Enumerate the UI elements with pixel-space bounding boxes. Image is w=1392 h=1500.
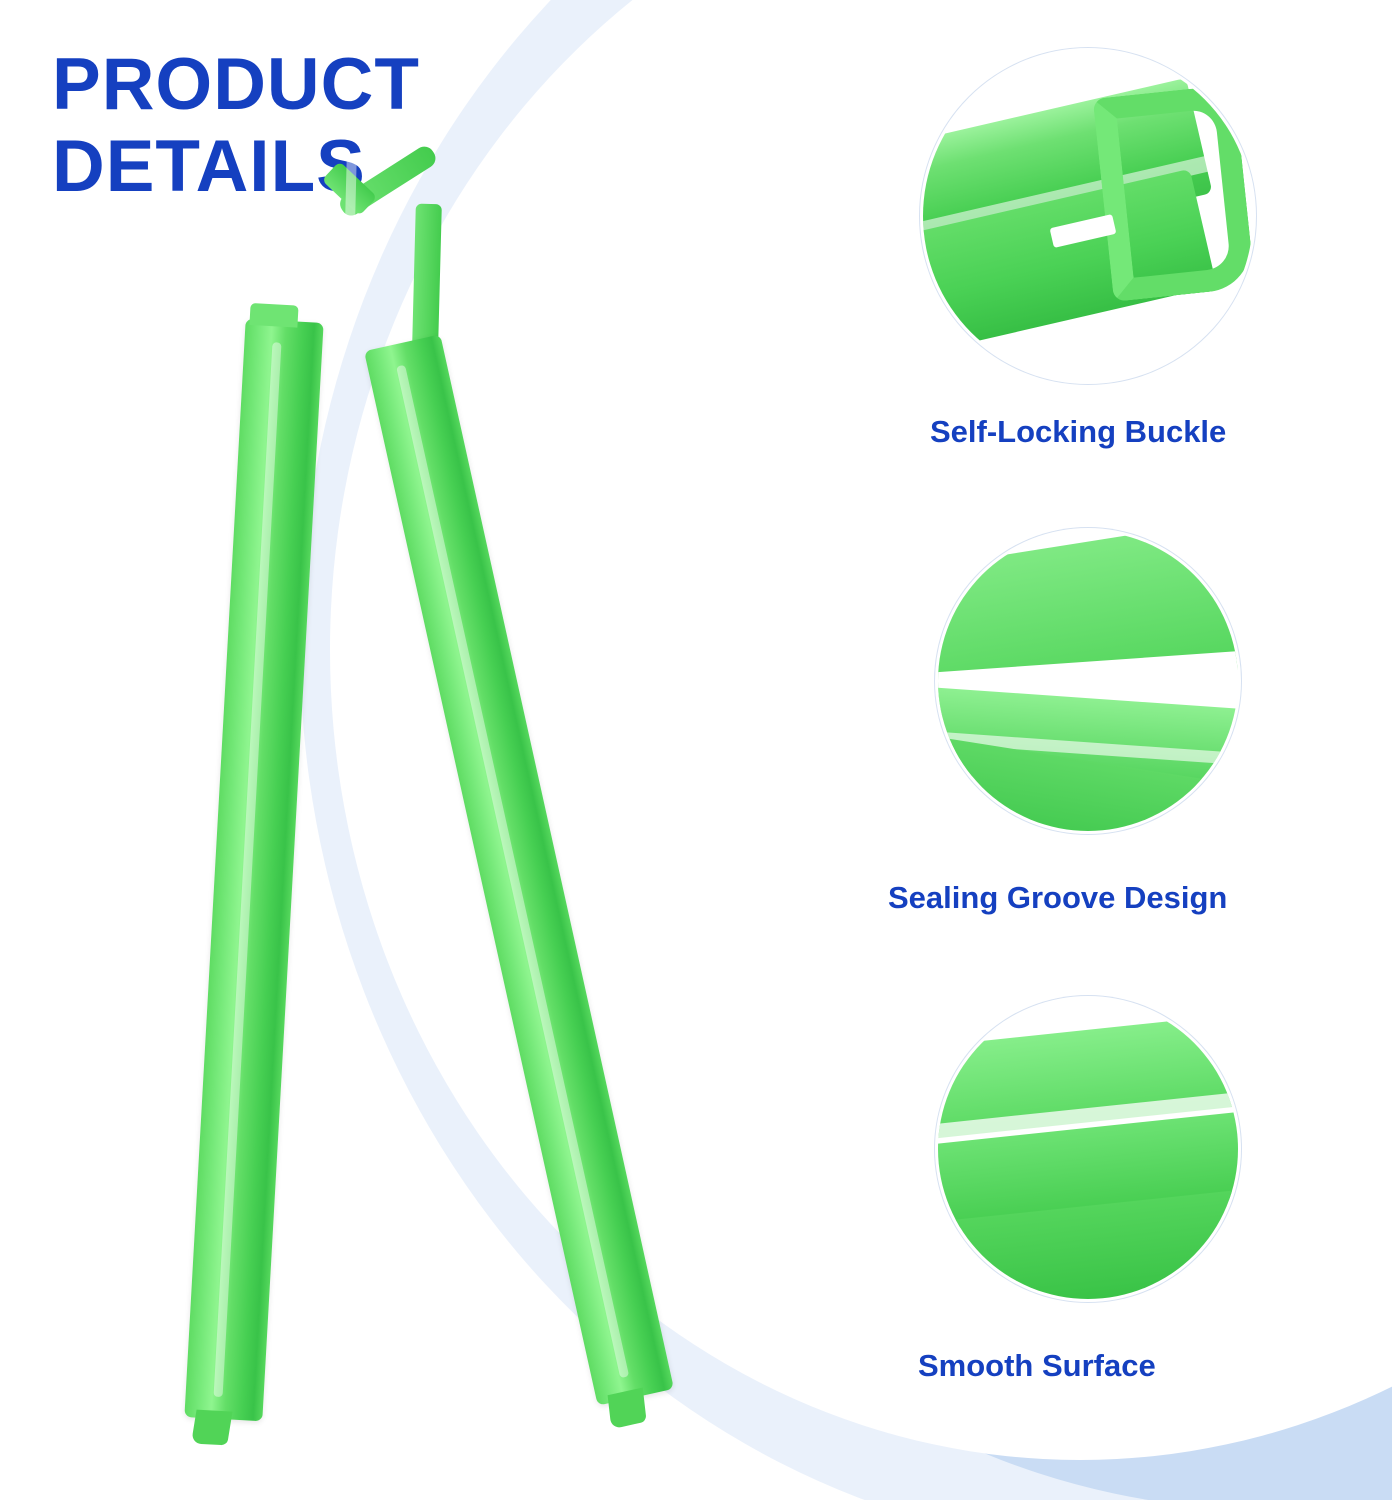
clip-right bbox=[364, 334, 674, 1405]
product-details-page: PRODUCT DETAILS bbox=[0, 0, 1392, 1500]
detail-2-caption: Sealing Groove Design bbox=[888, 880, 1227, 916]
detail-1-closeup-image bbox=[920, 48, 1256, 384]
clip-left-notch bbox=[249, 303, 298, 328]
clip-left-tip bbox=[191, 1410, 232, 1446]
detail-1-caption: Self-Locking Buckle bbox=[930, 414, 1226, 450]
surface-closeup bbox=[938, 999, 1238, 1299]
detail-3-closeup-image bbox=[935, 996, 1241, 1302]
buckle-closeup bbox=[923, 51, 1253, 381]
product-photo bbox=[60, 300, 880, 1460]
clip-right-body bbox=[364, 334, 674, 1405]
groove-closeup bbox=[938, 531, 1238, 831]
clip-left bbox=[184, 319, 323, 1422]
clip-left-body bbox=[184, 319, 323, 1422]
buckle-lock-arm bbox=[1093, 84, 1256, 302]
detail-2-closeup-image bbox=[935, 528, 1241, 834]
hook-highlight bbox=[344, 161, 357, 261]
clip-right-tip bbox=[608, 1387, 647, 1429]
detail-3-caption: Smooth Surface bbox=[918, 1348, 1156, 1384]
hook-arm bbox=[412, 204, 442, 355]
